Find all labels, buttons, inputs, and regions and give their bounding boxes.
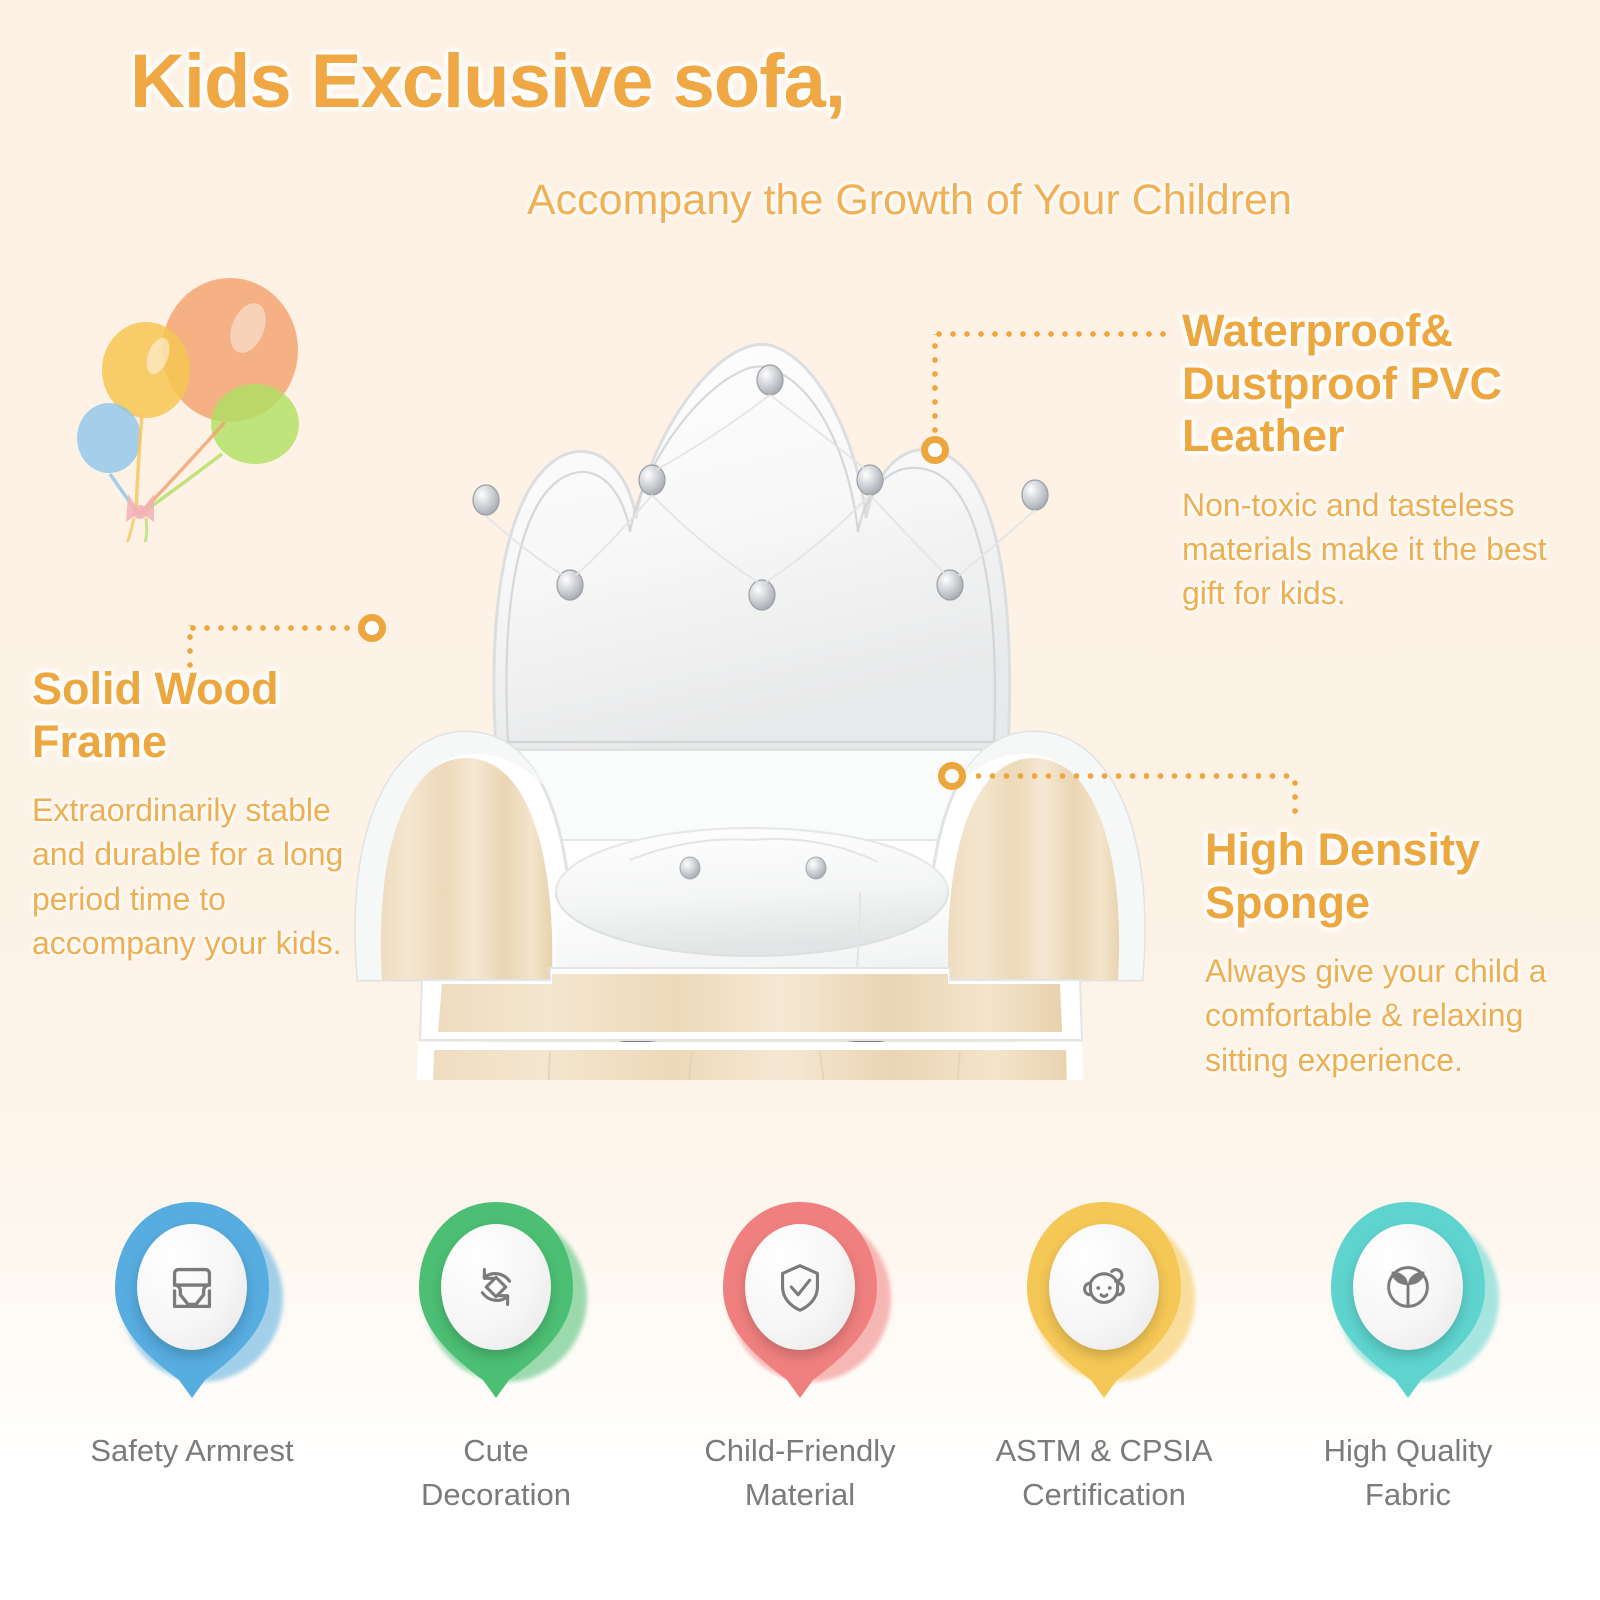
- page-title: Kids Exclusive sofa,: [130, 38, 845, 125]
- product-image-kids-sofa: [300, 280, 1200, 1080]
- feature-body-waterproof: Non-toxic and tasteless materials make i…: [1182, 483, 1582, 615]
- pin-disc: [137, 1224, 247, 1350]
- feature-heading-sponge: High Density Sponge: [1205, 824, 1595, 929]
- baby-face-icon: [1073, 1256, 1135, 1318]
- pin-disc: [1353, 1224, 1463, 1350]
- feature-block-sponge: High Density Sponge Always give your chi…: [1205, 824, 1595, 1082]
- badge-cute-decoration: Cute Decoration: [371, 1198, 621, 1517]
- badge-child-friendly-material: Child-Friendly Material: [675, 1198, 925, 1517]
- badge-astm-cpsia: ASTM & CPSIA Certification: [979, 1198, 1229, 1517]
- badge-label: Cute Decoration: [421, 1429, 571, 1517]
- callout-marker-sponge: [938, 762, 966, 790]
- callout-line-wood-horizontal: [188, 625, 366, 631]
- shield-check-icon: [769, 1256, 831, 1318]
- page-subtitle: Accompany the Growth of Your Children: [527, 176, 1292, 225]
- feature-body-sponge: Always give your child a comfortable & r…: [1205, 949, 1595, 1081]
- pin-astm-cpsia: [1019, 1198, 1189, 1403]
- infographic-canvas: Kids Exclusive sofa, Accompany the Growt…: [0, 0, 1600, 1600]
- feature-block-solid-wood: Solid Wood Frame Extraordinarily stable …: [32, 663, 377, 965]
- recycle-diamond-icon: [465, 1256, 527, 1318]
- badge-label: High Quality Fabric: [1324, 1429, 1493, 1517]
- pin-cute-decoration: [411, 1198, 581, 1403]
- badge-safety-armrest: Safety Armrest: [67, 1198, 317, 1473]
- feature-heading-solid-wood: Solid Wood Frame: [32, 663, 377, 768]
- feature-badge-row: Safety Armrest: [0, 1198, 1600, 1598]
- armchair-icon: [161, 1256, 223, 1318]
- badge-high-quality-fabric: High Quality Fabric: [1283, 1198, 1533, 1517]
- pin-disc: [1049, 1224, 1159, 1350]
- pin-disc: [441, 1224, 551, 1350]
- badge-label: Safety Armrest: [90, 1429, 293, 1473]
- callout-line-sponge-horizontal: [970, 773, 1295, 779]
- pin-child-friendly: [715, 1198, 885, 1403]
- callout-line-waterproof-vertical: [932, 334, 938, 442]
- sprout-icon: [1377, 1256, 1439, 1318]
- pin-safety-armrest: [107, 1198, 277, 1403]
- pin-high-quality-fabric: [1323, 1198, 1493, 1403]
- feature-body-solid-wood: Extraordinarily stable and durable for a…: [32, 788, 377, 965]
- pin-disc: [745, 1224, 855, 1350]
- callout-line-waterproof-horizontal: [932, 331, 1170, 337]
- callout-line-sponge-vertical: [1292, 773, 1298, 821]
- feature-heading-waterproof: Waterproof& Dustproof PVC Leather: [1182, 305, 1582, 463]
- badge-label: Child-Friendly Material: [704, 1429, 895, 1517]
- feature-block-waterproof: Waterproof& Dustproof PVC Leather Non-to…: [1182, 305, 1582, 615]
- badge-label: ASTM & CPSIA Certification: [995, 1429, 1212, 1517]
